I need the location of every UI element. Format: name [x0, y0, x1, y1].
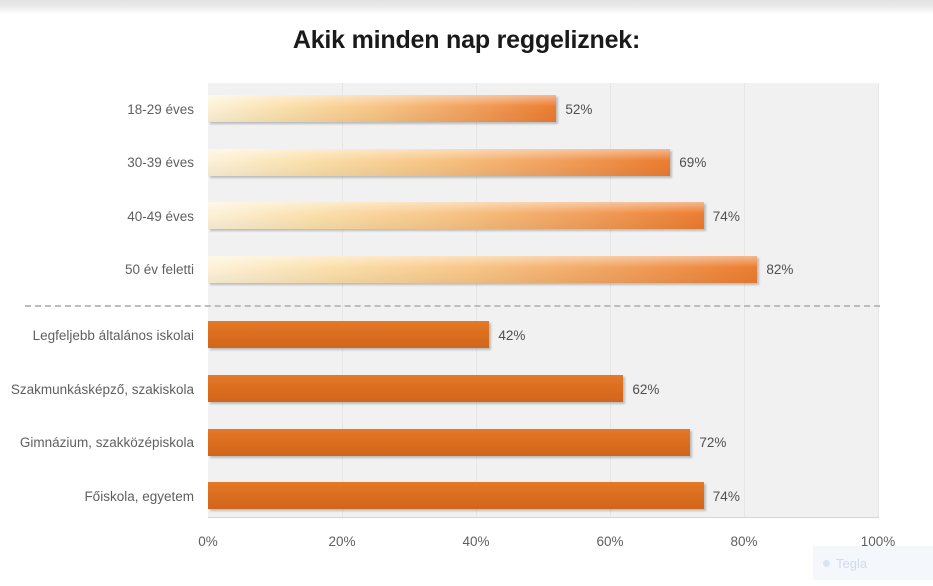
bar-value-label: 42%	[498, 329, 525, 343]
x-axis-tick-label: 80%	[730, 535, 757, 549]
bar[interactable]	[208, 202, 704, 229]
chart-row: 18-29 éves52%	[0, 95, 933, 147]
chart-row: 40-49 éves74%	[0, 202, 933, 254]
category-label: 50 év feletti	[0, 263, 194, 277]
bar-value-label: 82%	[766, 263, 793, 277]
chart-row: Legfeljebb általános iskolai42%	[0, 321, 933, 373]
chart-container: Akik minden nap reggeliznek: 18-29 éves5…	[0, 0, 933, 586]
x-axis-tick-label: 40%	[462, 535, 489, 549]
category-label: 30-39 éves	[0, 156, 194, 170]
bar[interactable]	[208, 149, 670, 176]
category-label: Főiskola, egyetem	[0, 490, 194, 504]
watermark-dot-icon	[823, 560, 830, 567]
watermark: Tegla	[813, 546, 933, 580]
category-label: Szakmunkásképző, szakiskola	[0, 383, 194, 397]
bar-value-label: 62%	[632, 383, 659, 397]
bar[interactable]	[208, 429, 690, 456]
x-axis-tick-label: 0%	[198, 535, 218, 549]
bar[interactable]	[208, 256, 757, 283]
category-label: Gimnázium, szakközépiskola	[0, 436, 194, 450]
chart-title: Akik minden nap reggeliznek:	[0, 26, 933, 55]
x-axis-tick-label: 60%	[596, 535, 623, 549]
bar[interactable]	[208, 95, 556, 122]
category-label: 40-49 éves	[0, 210, 194, 224]
bar-value-label: 52%	[565, 103, 592, 117]
bar[interactable]	[208, 375, 623, 402]
bar-value-label: 74%	[713, 210, 740, 224]
bar[interactable]	[208, 321, 489, 348]
top-gradient-band	[0, 0, 933, 14]
category-label: 18-29 éves	[0, 103, 194, 117]
chart-row: Szakmunkásképző, szakiskola62%	[0, 375, 933, 427]
chart-row: Főiskola, egyetem74%	[0, 482, 933, 534]
bar-value-label: 74%	[713, 490, 740, 504]
chart-row: Gimnázium, szakközépiskola72%	[0, 429, 933, 481]
bar-value-label: 72%	[699, 436, 726, 450]
category-label: Legfeljebb általános iskolai	[0, 329, 194, 343]
bar[interactable]	[208, 482, 704, 509]
chart-row: 30-39 éves69%	[0, 149, 933, 201]
bar-value-label: 69%	[679, 156, 706, 170]
watermark-label: Tegla	[836, 556, 867, 571]
x-axis-tick-label: 20%	[328, 535, 355, 549]
chart-row: 50 év feletti82%	[0, 256, 933, 308]
group-divider	[25, 305, 880, 307]
